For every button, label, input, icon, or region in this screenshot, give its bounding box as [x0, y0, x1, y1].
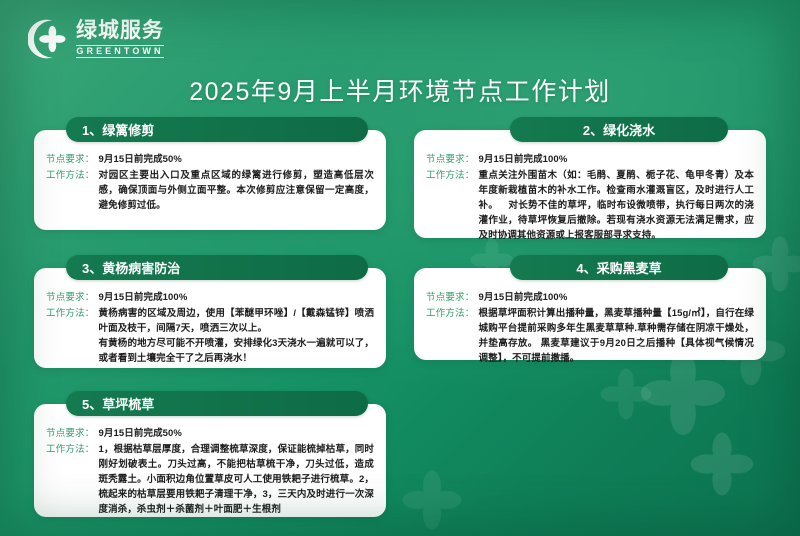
method-value-p2: 有黄杨的地方尽可能不开喷灌，安排绿化3天浇水一遍就可以了，或者看到土壤完全干了之…	[99, 338, 374, 364]
task-card-2: 2、绿化浇水 节点要求： 9月15日前完成100% 工作方法： 重点关注外围苗木…	[414, 130, 766, 238]
task-card-4-requirement-row: 节点要求： 9月15日前完成100%	[426, 290, 754, 305]
method-label: 工作方法：	[426, 306, 479, 321]
task-card-4-body: 节点要求： 9月15日前完成100% 工作方法： 根据草坪面积计算出播种量，黑麦…	[414, 290, 766, 367]
task-card-3-method-row: 工作方法： 黄杨病害的区域及周边，使用【苯醚甲环唑】/【戴森锰锌】喷洒叶面及枝干…	[46, 306, 374, 366]
petal-watermark-icon	[690, 432, 754, 496]
method-value: 黄杨病害的区域及周边，使用【苯醚甲环唑】/【戴森锰锌】喷洒叶面及枝干，间隔7天，…	[99, 306, 374, 366]
task-card-5-header: 5、草坪梳草	[66, 391, 368, 416]
method-label: 工作方法：	[46, 306, 99, 321]
task-card-2-requirement-row: 节点要求： 9月15日前完成100%	[426, 152, 754, 167]
requirement-label: 节点要求：	[426, 152, 479, 167]
method-value: 根据草坪面积计算出播种量，黑麦草播种量【15g/㎡】，自行在绿城购平台提前采购多…	[479, 306, 754, 366]
requirement-label: 节点要求：	[46, 426, 99, 441]
brand-logo: 绿城服务 GREENTOWN	[28, 18, 164, 60]
task-card-5-requirement-row: 节点要求： 9月15日前完成50%	[46, 426, 374, 441]
task-card-1-header: 1、绿篱修剪	[66, 117, 368, 142]
task-card-5-method-row: 工作方法： 1，根据枯草层厚度，合理调整梳草深度，保证能梳掉枯草，同时刚好划破表…	[46, 442, 374, 517]
poster-canvas: 绿城服务 GREENTOWN 2025年9月上半月环境节点工作计划 1、绿篱修剪…	[0, 0, 800, 536]
requirement-value: 9月15日前完成100%	[479, 290, 568, 305]
requirement-value: 9月15日前完成50%	[99, 152, 182, 167]
task-card-3-requirement-row: 节点要求： 9月15日前完成100%	[46, 290, 374, 305]
method-value: 重点关注外围苗木（如：毛鹃、夏鹃、栀子花、龟甲冬青）及本年度新栽植苗木的补水工作…	[479, 168, 754, 243]
page-title: 2025年9月上半月环境节点工作计划	[0, 72, 800, 108]
method-value: 1，根据枯草层厚度，合理调整梳草深度，保证能梳掉枯草，同时刚好划破表土。刀头过高…	[99, 442, 374, 517]
task-card-4-header: 4、采购黑麦草	[510, 255, 728, 280]
greentown-crescent-petal-logo-icon	[28, 18, 70, 60]
petal-watermark-icon	[402, 470, 462, 530]
task-card-4-method-row: 工作方法： 根据草坪面积计算出播种量，黑麦草播种量【15g/㎡】，自行在绿城购平…	[426, 306, 754, 366]
requirement-label: 节点要求：	[46, 290, 99, 305]
requirement-value: 9月15日前完成100%	[479, 152, 568, 167]
method-label: 工作方法：	[46, 442, 99, 457]
task-card-2-body: 节点要求： 9月15日前完成100% 工作方法： 重点关注外围苗木（如：毛鹃、夏…	[414, 152, 766, 244]
petal-watermark-icon	[600, 368, 652, 420]
method-value-p2: 对长势不佳的草坪，临时布设微喷带，执行每日两次的浇灌作业，待草坪恢复后撤除。若现…	[479, 200, 754, 241]
task-card-4: 4、采购黑麦草 节点要求： 9月15日前完成100% 工作方法： 根据草坪面积计…	[414, 268, 766, 360]
requirement-value: 9月15日前完成50%	[99, 426, 182, 441]
task-card-1-body: 节点要求： 9月15日前完成50% 工作方法： 对园区主要出入口及重点区域的绿篱…	[34, 152, 386, 214]
method-label: 工作方法：	[46, 168, 99, 183]
task-card-3: 3、黄杨病害防治 节点要求： 9月15日前完成100% 工作方法： 黄杨病害的区…	[34, 268, 386, 368]
brand-name-en: GREENTOWN	[76, 45, 164, 58]
requirement-label: 节点要求：	[46, 152, 99, 167]
method-label: 工作方法：	[426, 168, 479, 183]
task-card-5: 5、草坪梳草 节点要求： 9月15日前完成50% 工作方法： 1，根据枯草层厚度…	[34, 404, 386, 517]
method-value: 对园区主要出入口及重点区域的绿篱进行修剪，塑造高低层次感，确保顶面与外侧立面平整…	[99, 168, 374, 213]
task-card-3-body: 节点要求： 9月15日前完成100% 工作方法： 黄杨病害的区域及周边，使用【苯…	[34, 290, 386, 367]
task-card-1: 1、绿篱修剪 节点要求： 9月15日前完成50% 工作方法： 对园区主要出入口及…	[34, 130, 386, 230]
requirement-label: 节点要求：	[426, 290, 479, 305]
task-card-1-method-row: 工作方法： 对园区主要出入口及重点区域的绿篱进行修剪，塑造高低层次感，确保顶面与…	[46, 168, 374, 213]
task-card-5-body: 节点要求： 9月15日前完成50% 工作方法： 1，根据枯草层厚度，合理调整梳草…	[34, 426, 386, 518]
method-value-p1: 黄杨病害的区域及周边，使用【苯醚甲环唑】/【戴森锰锌】喷洒叶面及枝干，间隔7天，…	[99, 308, 374, 334]
task-card-2-method-row: 工作方法： 重点关注外围苗木（如：毛鹃、夏鹃、栀子花、龟甲冬青）及本年度新栽植苗…	[426, 168, 754, 243]
brand-name-cn: 绿城服务	[76, 20, 164, 41]
task-card-2-header: 2、绿化浇水	[510, 117, 728, 142]
task-card-1-requirement-row: 节点要求： 9月15日前完成50%	[46, 152, 374, 167]
requirement-value: 9月15日前完成100%	[99, 290, 188, 305]
task-card-3-header: 3、黄杨病害防治	[66, 255, 368, 280]
